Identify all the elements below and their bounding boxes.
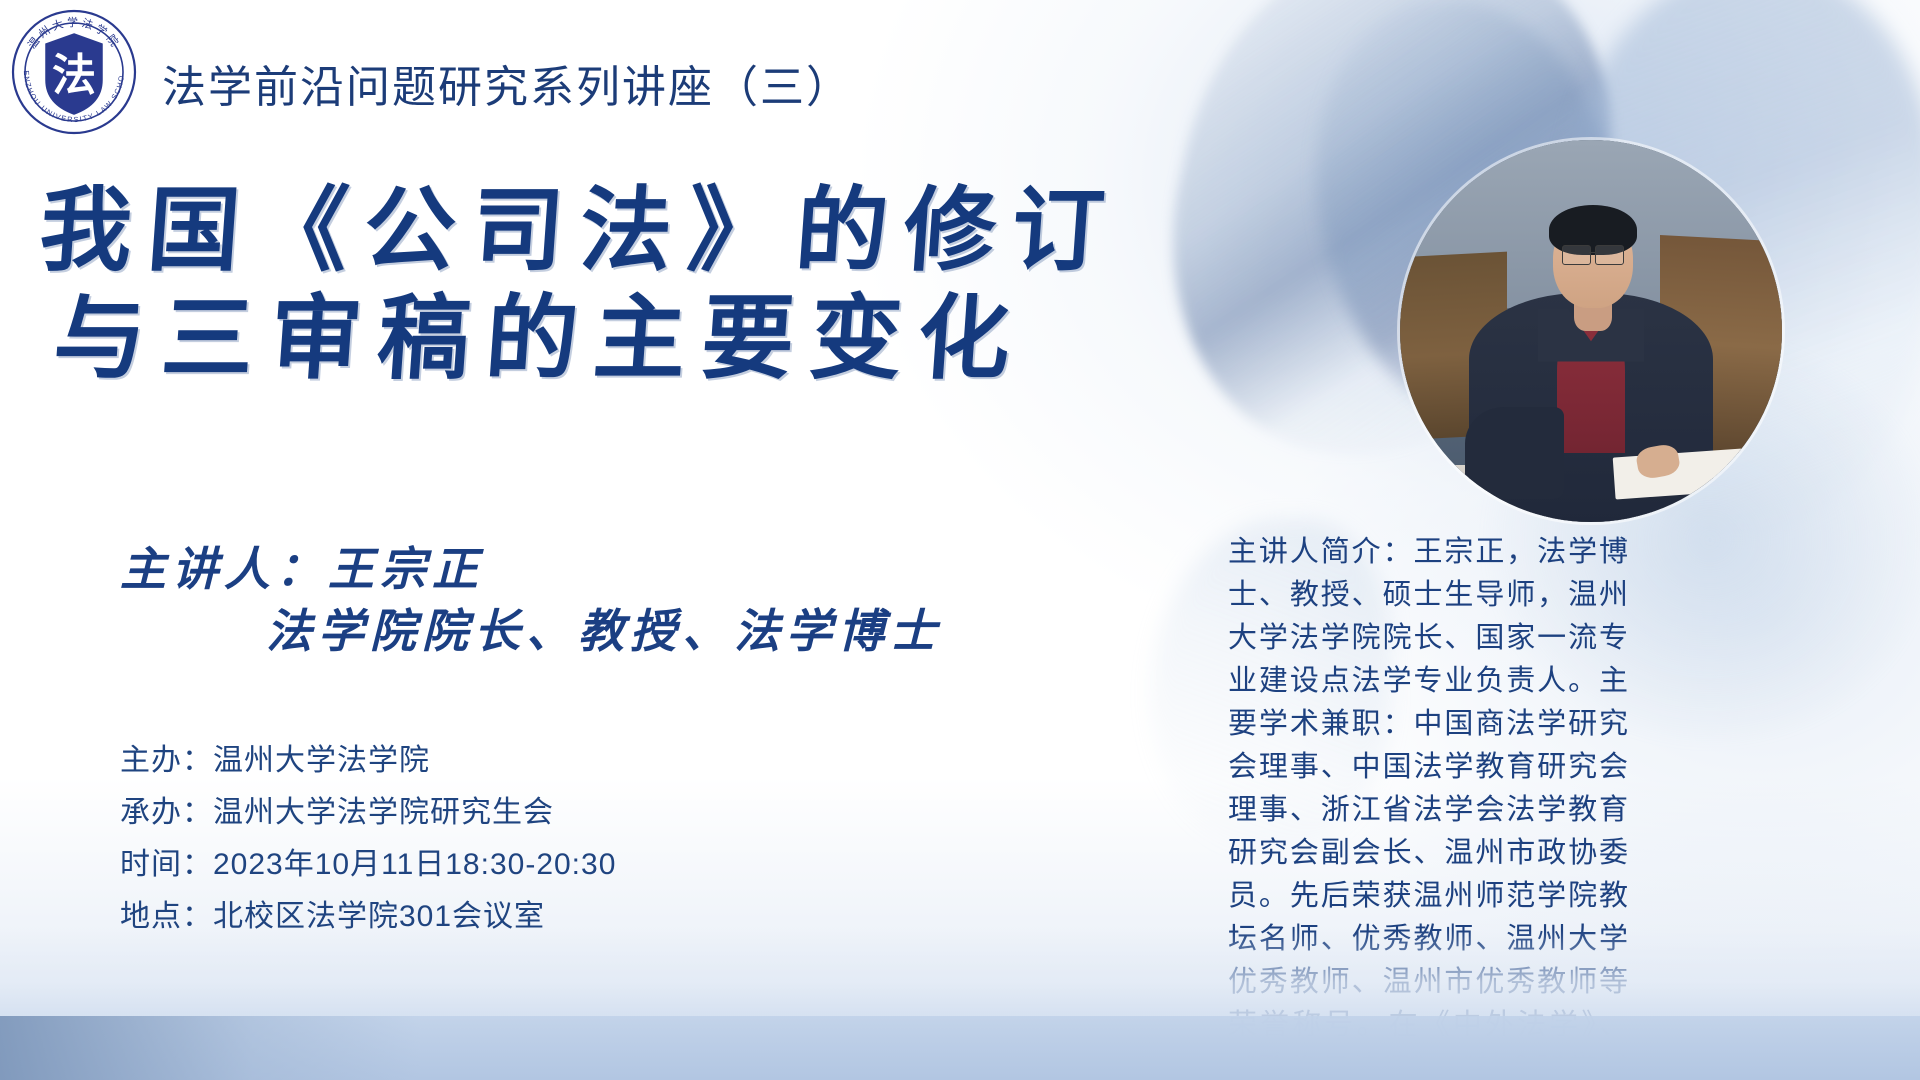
main-title-line-2: 与三审稿的主要变化 bbox=[36, 284, 1054, 392]
university-seal-icon: 温州大学法学院 WENZHOU UNIVERSITY LAW SCHOOL 法 bbox=[10, 8, 138, 136]
portrait-glasses-bridge bbox=[1589, 252, 1596, 254]
speaker-block: 主讲人：王宗正 法学院院长、教授、法学博士 bbox=[120, 538, 942, 662]
lecture-poster: 温州大学法学院 WENZHOU UNIVERSITY LAW SCHOOL 法 … bbox=[0, 0, 1920, 1080]
portrait-arm bbox=[1465, 407, 1564, 499]
poster-header: 温州大学法学院 WENZHOU UNIVERSITY LAW SCHOOL 法 … bbox=[10, 8, 852, 136]
series-title: 法学前沿问题研究系列讲座（三） bbox=[162, 51, 852, 115]
detail-organizer: 主办：温州大学法学院 bbox=[120, 735, 616, 787]
speaker-name: 主讲人：王宗正 bbox=[120, 538, 942, 600]
portrait-glasses-right-lens bbox=[1595, 245, 1624, 265]
main-title-line-1: 我国《公司法》的修订 bbox=[36, 176, 1054, 284]
svg-text:法: 法 bbox=[52, 50, 96, 101]
detail-co-organizer: 承办：温州大学法学院研究生会 bbox=[120, 787, 616, 839]
detail-time: 时间：2023年10月11日18:30-20:30 bbox=[120, 839, 616, 891]
event-details: 主办：温州大学法学院 承办：温州大学法学院研究生会 时间：2023年10月11日… bbox=[120, 735, 616, 943]
bottom-left-shadow bbox=[0, 1016, 420, 1080]
speaker-portrait-photo bbox=[1400, 140, 1782, 522]
main-title: 我国《公司法》的修订 与三审稿的主要变化 bbox=[40, 176, 1050, 392]
speaker-title: 法学院院长、教授、法学博士 bbox=[120, 600, 942, 662]
portrait-glasses-left-lens bbox=[1562, 245, 1591, 265]
